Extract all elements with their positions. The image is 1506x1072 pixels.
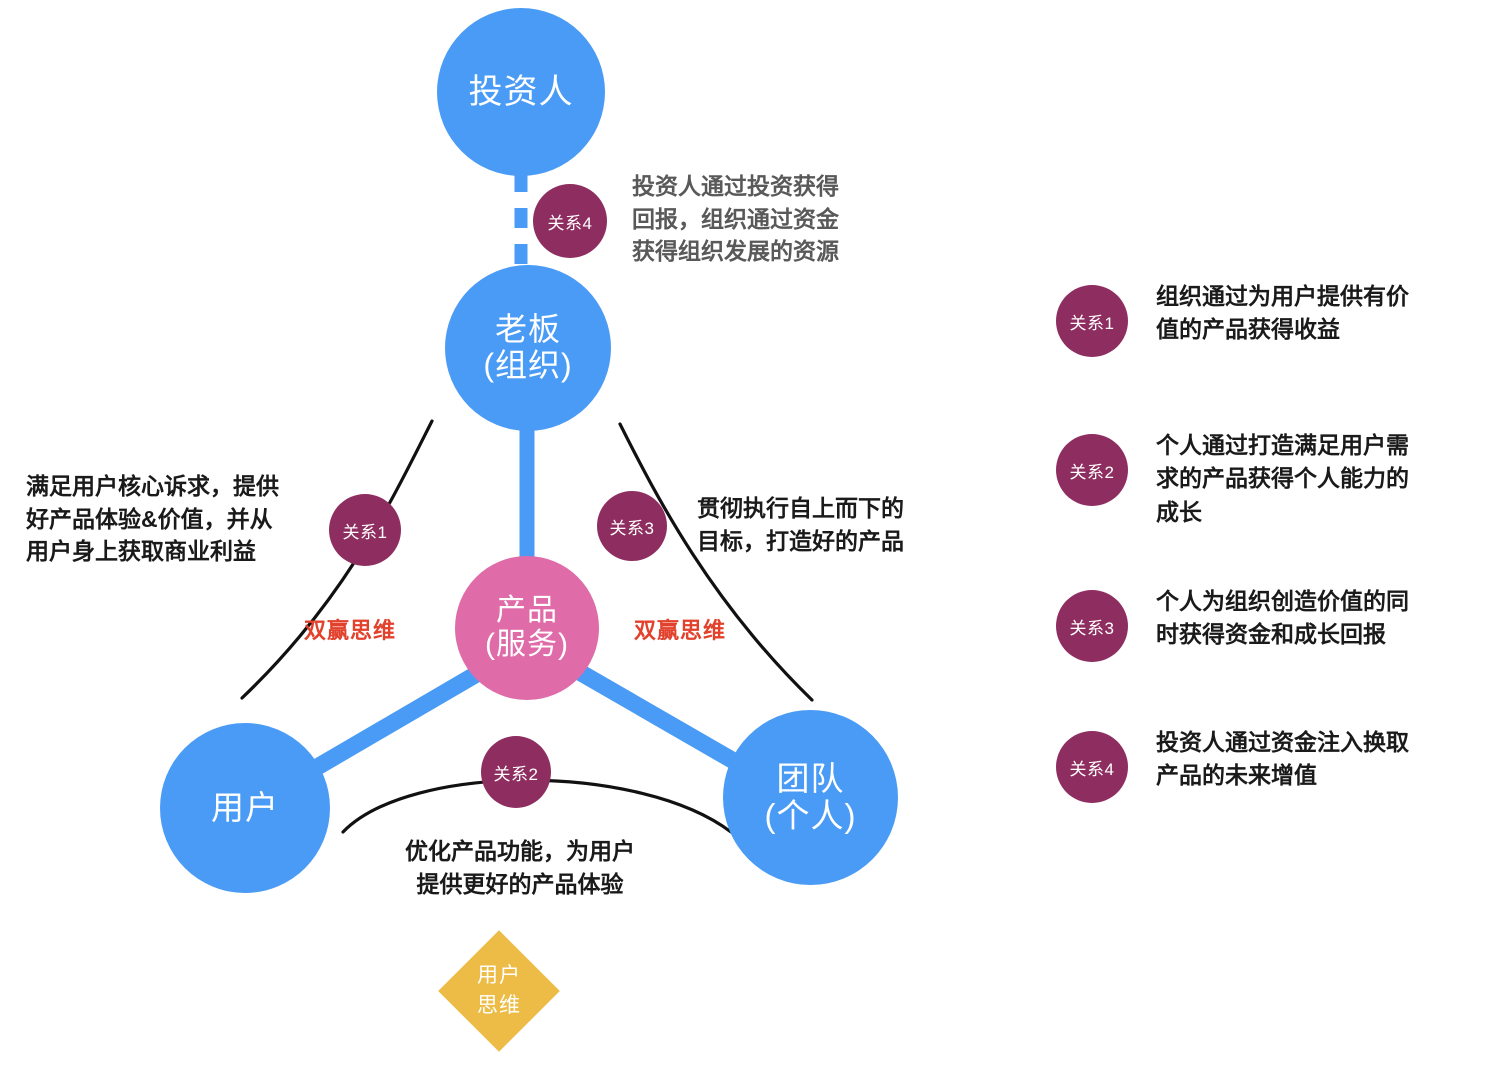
node-user[interactable]: 用户 <box>160 723 330 893</box>
relation-badge-2[interactable]: 关系2 <box>481 736 551 808</box>
node-boss-label: 老板 <box>495 312 561 348</box>
node-team-sublabel: (个人) <box>765 798 857 835</box>
legend-text-4: 投资人通过资金注入换取 产品的未来增值 <box>1156 724 1409 793</box>
legend-item-1[interactable]: 关系1 组织通过为用户提供有价 值的产品获得收益 <box>1056 278 1476 357</box>
user-mindset-diamond[interactable]: 用户 思维 <box>438 930 560 1052</box>
winwin-label-left: 双赢思维 <box>304 613 396 645</box>
node-boss[interactable]: 老板 (组织) <box>445 265 611 431</box>
legend-badge-4: 关系4 <box>1056 731 1128 803</box>
legend-badge-3: 关系3 <box>1056 590 1128 662</box>
node-team[interactable]: 团队 (个人) <box>723 710 898 885</box>
annotation-relation-1: 满足用户核心诉求，提供 好产品体验&价值，并从 用户身上获取商业利益 <box>26 470 341 568</box>
legend-text-3: 个人为组织创造价值的同 时获得资金和成长回报 <box>1156 583 1409 652</box>
node-investor[interactable]: 投资人 <box>437 8 605 176</box>
relation-legend: 关系1 组织通过为用户提供有价 值的产品获得收益 关系2 个人通过打造满足用户需… <box>1056 278 1476 803</box>
legend-text-2: 个人通过打造满足用户需 求的产品获得个人能力的 成长 <box>1156 427 1409 529</box>
node-user-label: 用户 <box>211 790 279 827</box>
relation-badge-3[interactable]: 关系3 <box>597 491 667 561</box>
annotation-relation-4: 投资人通过投资获得 回报，组织通过资金 获得组织发展的资源 <box>632 170 908 268</box>
legend-item-2[interactable]: 关系2 个人通过打造满足用户需 求的产品获得个人能力的 成长 <box>1056 427 1476 529</box>
annotation-relation-2: 优化产品功能，为用户 提供更好的产品体验 <box>355 835 685 900</box>
legend-item-4[interactable]: 关系4 投资人通过资金注入换取 产品的未来增值 <box>1056 724 1476 803</box>
node-team-label: 团队 <box>777 761 845 798</box>
winwin-label-right: 双赢思维 <box>634 613 726 645</box>
legend-badge-1: 关系1 <box>1056 285 1128 357</box>
relation-badge-4[interactable]: 关系4 <box>533 184 607 258</box>
legend-text-1: 组织通过为用户提供有价 值的产品获得收益 <box>1156 278 1409 347</box>
diamond-line-1: 用户 <box>477 961 521 991</box>
arc-relation-3 <box>620 424 812 700</box>
node-product-sublabel: (服务) <box>485 628 569 662</box>
node-product-label: 产品 <box>496 594 558 628</box>
legend-badge-2: 关系2 <box>1056 434 1128 506</box>
diamond-text: 用户 思维 <box>438 930 560 1052</box>
diamond-line-2: 思维 <box>477 991 521 1021</box>
node-product[interactable]: 产品 (服务) <box>455 556 599 700</box>
legend-item-3[interactable]: 关系3 个人为组织创造价值的同 时获得资金和成长回报 <box>1056 583 1476 662</box>
node-investor-label: 投资人 <box>469 73 574 111</box>
annotation-relation-3: 贯彻执行自上而下的 目标，打造好的产品 <box>697 492 967 557</box>
edge-product-user <box>295 672 480 780</box>
diagram-canvas: 投资人 老板 (组织) 产品 (服务) 用户 团队 (个人) 关系4 关系1 关… <box>0 0 1506 1072</box>
node-boss-sublabel: (组织) <box>483 348 572 384</box>
